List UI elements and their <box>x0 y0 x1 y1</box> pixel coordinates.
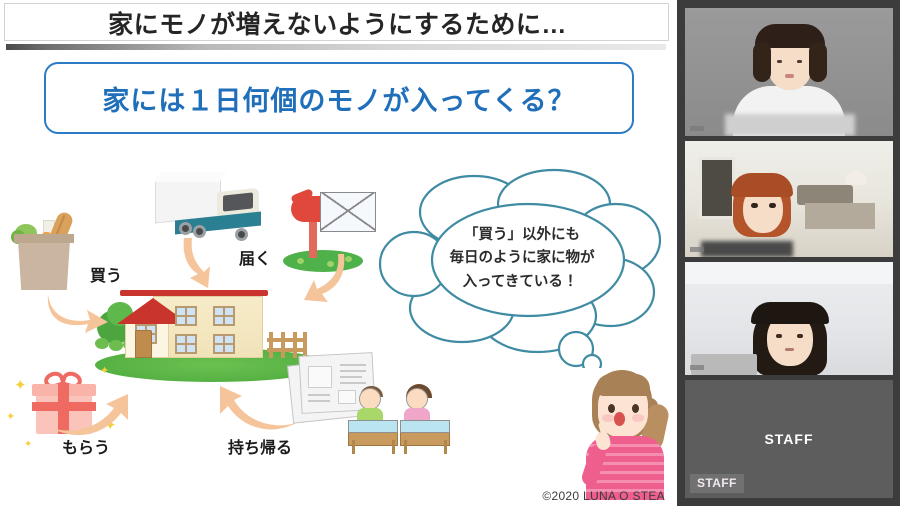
title-underline-bar <box>6 44 666 50</box>
tile-4-name-badge: STAFF <box>690 474 744 493</box>
shared-slide[interactable]: 家にモノが増えないようにするために… 家には１日何個のモノが入ってくる？ 買う <box>0 0 677 506</box>
thinking-girl-icon <box>570 368 677 500</box>
arrow-newspaper-to-house <box>212 380 302 432</box>
sparkle-icon: ✦ <box>14 378 27 393</box>
envelope-icon <box>320 192 376 232</box>
video-tile-3[interactable] <box>685 262 893 375</box>
copyright-text: ©2020 LUNA O STEA <box>542 489 665 503</box>
video-tile-2[interactable] <box>685 141 893 257</box>
arrow-mailbox-to-house <box>296 250 352 308</box>
video-participant-panel: STAFF STAFF <box>677 0 900 506</box>
arrow-buy-to-house <box>40 288 110 344</box>
tile-4-center-label: STAFF <box>685 431 893 447</box>
arrow-truck-to-house <box>178 236 226 292</box>
label-bring-home: 持ち帰る <box>228 434 292 458</box>
students-at-desks-icon <box>348 382 456 448</box>
page-title: 家にモノが増えないようにするために… <box>5 4 670 42</box>
question-text: 家には１日何個のモノが入ってくる？ <box>102 79 575 118</box>
sparkle-icon: ✦ <box>24 440 32 450</box>
grocery-bag-icon <box>8 212 80 290</box>
slide-title-frame: 家にモノが増えないようにするために… <box>4 3 669 41</box>
label-deliver: 届く <box>239 245 271 269</box>
video-tile-1[interactable] <box>685 8 893 136</box>
bubble-text: 「買う」以外にも 毎日のように家に物が 入ってきている ！ <box>406 224 638 294</box>
arrow-gift-to-house <box>48 386 134 436</box>
sparkle-icon: ✦ <box>100 366 109 377</box>
video-tile-4[interactable]: STAFF STAFF <box>685 380 893 498</box>
thought-bubble: 「買う」以外にも 毎日のように家に物が 入ってきている ！ <box>378 168 666 368</box>
tile-1-name-badge <box>690 126 704 131</box>
label-receive: もらう <box>62 434 110 458</box>
sparkle-icon: ✦ <box>6 412 15 423</box>
question-callout-box: 家には１日何個のモノが入ってくる？ <box>44 62 634 134</box>
tile-3-name-badge <box>690 365 704 370</box>
tile-2-name-badge <box>690 247 704 252</box>
slide-canvas: 家にモノが増えないようにするために… 家には１日何個のモノが入ってくる？ 買う <box>0 0 677 506</box>
app-root: 家にモノが増えないようにするために… 家には１日何個のモノが入ってくる？ 買う <box>0 0 900 506</box>
delivery-truck-icon <box>155 172 265 244</box>
